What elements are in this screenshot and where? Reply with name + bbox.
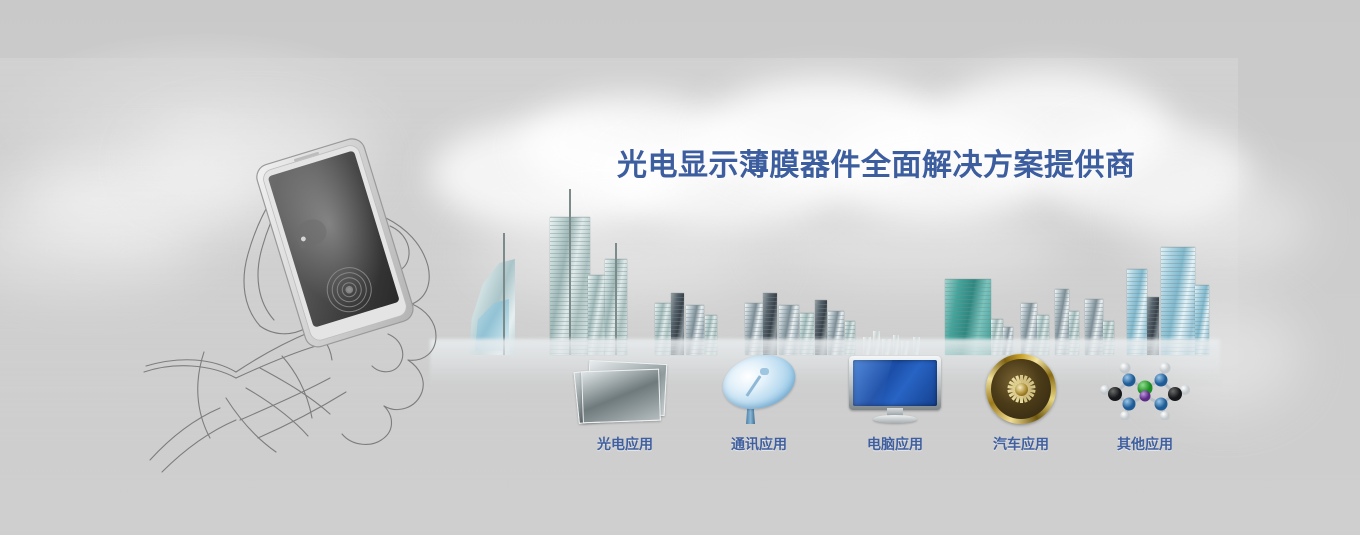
hero-banner: 光电显示薄膜器件全面解决方案提供商 光电应用 <box>0 0 1360 535</box>
application-item-optoelectronic[interactable]: 光电应用 <box>565 352 685 454</box>
computer-monitor-icon <box>835 352 955 424</box>
glass-skyscraper-skyline <box>455 170 1195 355</box>
molecule-model-icon <box>1085 352 1205 424</box>
hand-holding-smartphone-sketch <box>140 120 470 475</box>
application-item-automotive[interactable]: 汽车应用 <box>961 352 1081 454</box>
application-icon-row: 光电应用 通讯应用 电脑应用 <box>565 352 1195 462</box>
application-item-other[interactable]: 其他应用 <box>1085 352 1205 454</box>
application-label: 汽车应用 <box>961 434 1081 454</box>
application-item-computer[interactable]: 电脑应用 <box>835 352 955 454</box>
application-item-communication[interactable]: 通讯应用 <box>699 352 819 454</box>
smartphone <box>254 136 417 350</box>
satellite-dish-icon <box>699 352 819 424</box>
application-label: 光电应用 <box>565 434 685 454</box>
application-label: 通讯应用 <box>699 434 819 454</box>
alloy-wheel-icon <box>961 352 1081 424</box>
page-title: 光电显示薄膜器件全面解决方案提供商 <box>617 140 1136 184</box>
application-label: 电脑应用 <box>835 434 955 454</box>
glass-film-stack-icon <box>565 352 685 424</box>
application-label: 其他应用 <box>1085 434 1205 454</box>
